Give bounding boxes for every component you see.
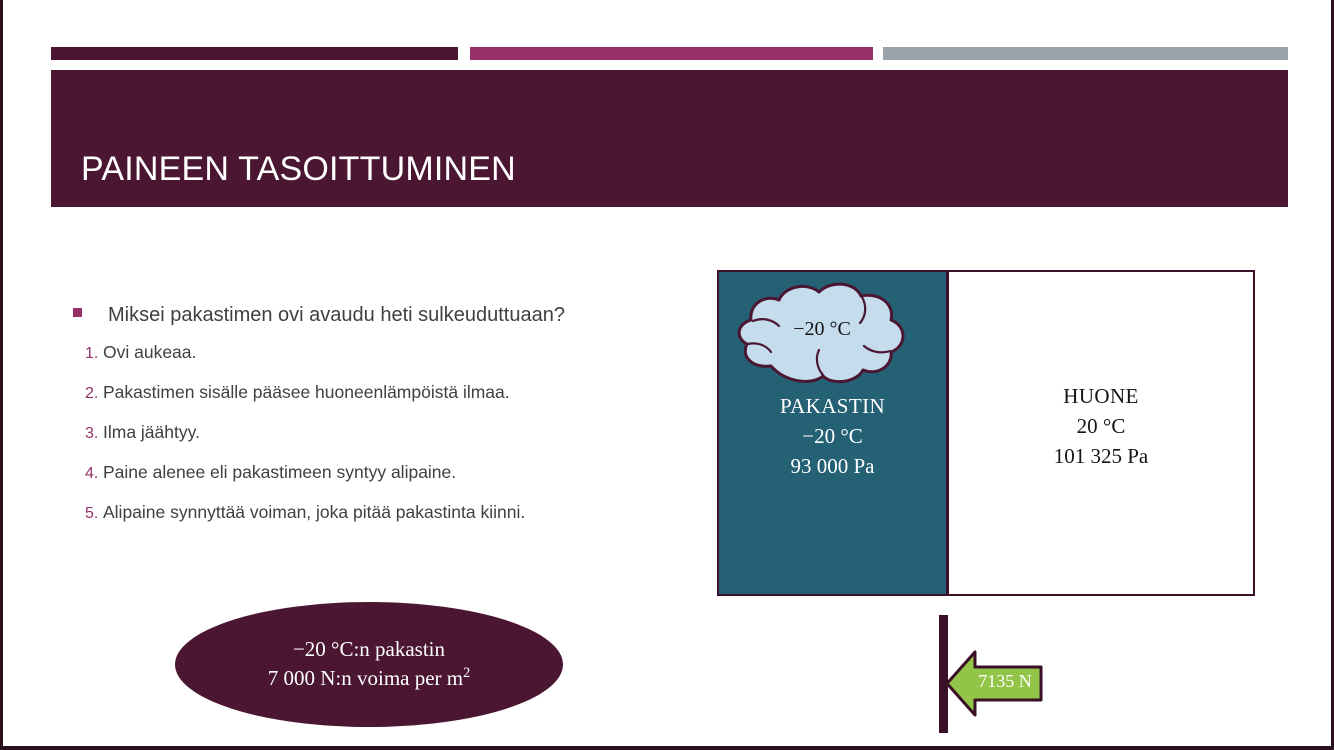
room-compartment: HUONE 20 °C 101 325 Pa (949, 272, 1253, 594)
list-item-label: Ilma jäähtyy. (103, 422, 200, 443)
freezer-labels: PAKASTIN −20 °C 93 000 Pa (719, 392, 946, 481)
accent-bar-pink (470, 47, 873, 60)
cold-air-cloud-icon: −20 °C (733, 280, 911, 388)
question-text: Miksei pakastimen ovi avaudu heti sulkeu… (108, 303, 565, 328)
bullet-list-area: Miksei pakastimen ovi avaudu heti sulkeu… (73, 303, 673, 542)
square-bullet-icon (73, 308, 82, 317)
room-pressure: 101 325 Pa (949, 442, 1253, 472)
title-band: PAINEEN TASOITTUMINEN (51, 70, 1288, 207)
list-item-label: Pakastimen sisälle pääsee huoneenlämpöis… (103, 382, 510, 403)
summary-callout-ellipse: −20 °C:n pakastin 7 000 N:n voima per m2 (175, 602, 563, 727)
callout-exponent: 2 (463, 665, 470, 681)
force-arrow-left-icon (945, 647, 1043, 720)
callout-line-1: −20 °C:n pakastin (293, 636, 445, 664)
freezer-compartment: −20 °C PAKASTIN −20 °C 93 000 Pa (719, 272, 946, 594)
room-name: HUONE (949, 382, 1253, 412)
list-item-number: 4. (73, 465, 103, 483)
callout-line-2: 7 000 N:n voima per m2 (268, 664, 471, 693)
slide-canvas: PAINEEN TASOITTUMINEN Miksei pakastimen … (0, 0, 1334, 750)
list-item-number: 5. (73, 505, 103, 523)
freezer-room-diagram: −20 °C PAKASTIN −20 °C 93 000 Pa HUONE 2… (717, 270, 1255, 596)
force-indicator-group: 7135 N (939, 615, 1049, 733)
list-item: 4. Paine alenee eli pakastimeen syntyy a… (73, 462, 673, 483)
room-temperature: 20 °C (949, 412, 1253, 442)
room-labels: HUONE 20 °C 101 325 Pa (949, 382, 1253, 471)
list-item-number: 2. (73, 385, 103, 403)
steps-list: 1. Ovi aukeaa. 2. Pakastimen sisälle pää… (73, 342, 673, 523)
list-item: 3. Ilma jäähtyy. (73, 422, 673, 443)
accent-bar-dark (51, 47, 458, 60)
freezer-pressure: 93 000 Pa (719, 452, 946, 482)
accent-bar-gray (883, 47, 1288, 60)
list-item: 2. Pakastimen sisälle pääsee huoneenlämp… (73, 382, 673, 403)
page-title: PAINEEN TASOITTUMINEN (81, 150, 516, 189)
list-item: 1. Ovi aukeaa. (73, 342, 673, 363)
list-item: 5. Alipaine synnyttää voiman, joka pitää… (73, 502, 673, 523)
question-bullet: Miksei pakastimen ovi avaudu heti sulkeu… (73, 303, 673, 328)
callout-line-2-text: 7 000 N:n voima per m (268, 666, 463, 690)
list-item-number: 1. (73, 345, 103, 363)
list-item-number: 3. (73, 425, 103, 443)
list-item-label: Ovi aukeaa. (103, 342, 196, 363)
freezer-temperature: −20 °C (719, 422, 946, 452)
list-item-label: Alipaine synnyttää voiman, joka pitää pa… (103, 502, 525, 523)
freezer-name: PAKASTIN (719, 392, 946, 422)
list-item-label: Paine alenee eli pakastimeen syntyy alip… (103, 462, 456, 483)
